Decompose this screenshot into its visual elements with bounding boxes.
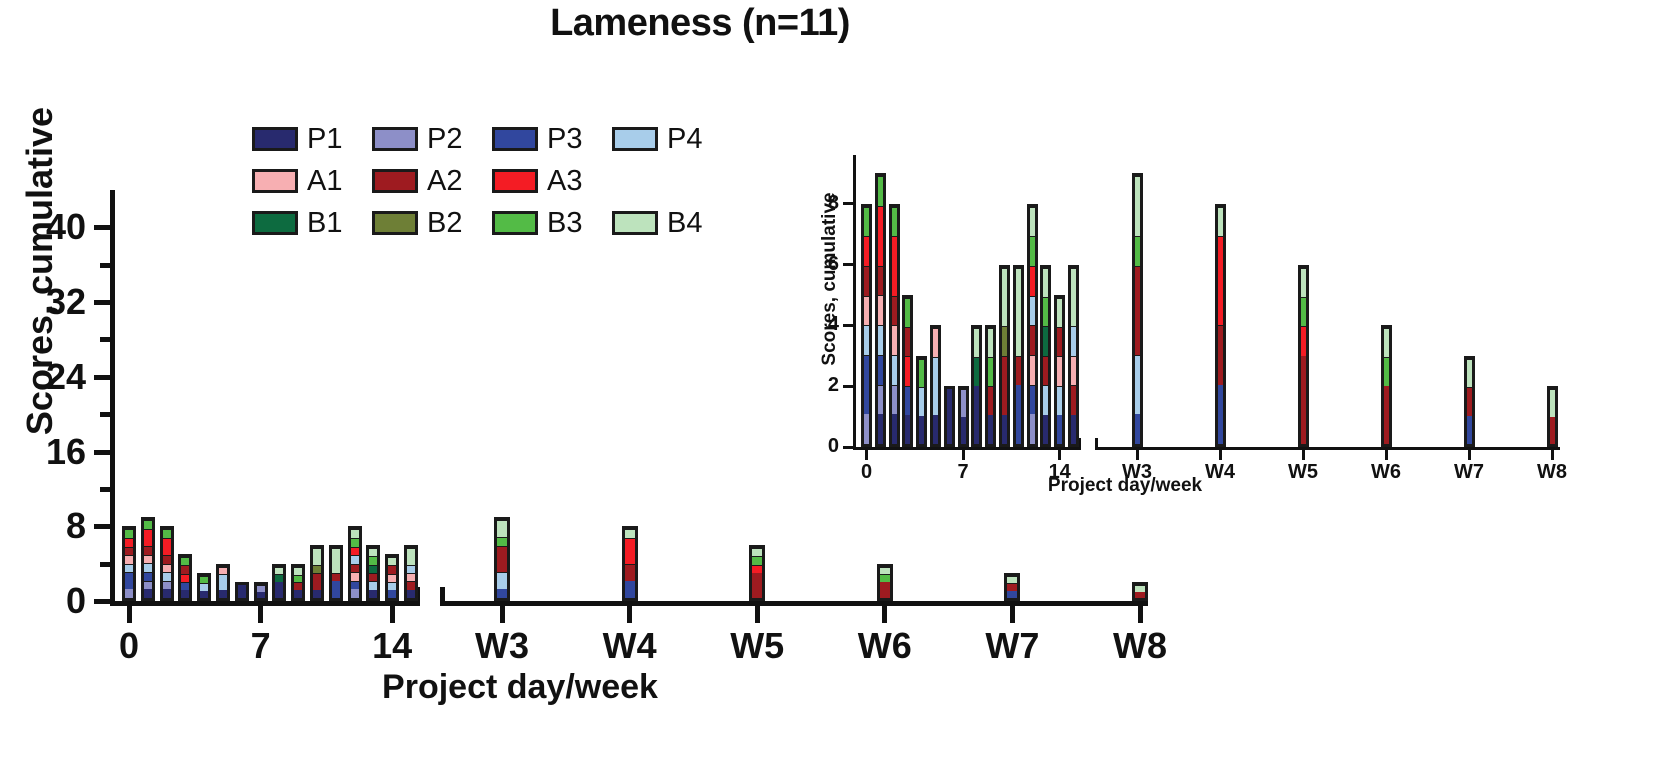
bar-segment-p1 bbox=[294, 590, 302, 598]
bar-segment-b3 bbox=[144, 520, 152, 529]
bar-segment-p4 bbox=[1030, 296, 1035, 326]
main-x-tick-label-day: 0 bbox=[89, 625, 169, 667]
inset-day-bar bbox=[1027, 204, 1038, 447]
bar-segment-p3 bbox=[332, 581, 340, 598]
bar-segment-a2 bbox=[1002, 356, 1007, 415]
bar-segment-p4 bbox=[351, 555, 359, 564]
inset-week-bar bbox=[1132, 173, 1143, 447]
bar-segment-p2 bbox=[163, 581, 171, 590]
bar-segment-b4 bbox=[1030, 207, 1035, 237]
bar-segment-p4 bbox=[388, 582, 396, 590]
inset-y-tick-label: 2 bbox=[795, 374, 839, 397]
bar-segment-b4 bbox=[369, 548, 377, 556]
bar-segment-b4 bbox=[1218, 207, 1223, 237]
inset-day-bar bbox=[971, 325, 982, 447]
bar-segment-a2 bbox=[351, 564, 359, 573]
main-day-bar bbox=[310, 545, 324, 601]
bar-segment-p3 bbox=[1218, 385, 1223, 444]
main-week-bar bbox=[1132, 582, 1148, 601]
bar-segment-b3 bbox=[369, 556, 377, 564]
bar-segment-b3 bbox=[1043, 297, 1048, 326]
bar-segment-b1 bbox=[275, 574, 283, 582]
bar-segment-a1 bbox=[1057, 356, 1062, 385]
bar-segment-b4 bbox=[1301, 268, 1306, 297]
main-y-tick-major bbox=[94, 300, 110, 305]
bar-segment-b4 bbox=[332, 548, 340, 573]
bar-segment-p4 bbox=[878, 325, 883, 355]
bar-segment-p4 bbox=[497, 572, 507, 589]
bar-segment-a3 bbox=[752, 565, 762, 573]
bar-segment-a1 bbox=[1030, 355, 1035, 385]
inset-y-tick-label: 8 bbox=[795, 192, 839, 215]
bar-segment-a2 bbox=[1218, 325, 1223, 384]
main-x-tick-label-week: W8 bbox=[1085, 625, 1195, 667]
main-x-tick-label-week: W3 bbox=[447, 625, 557, 667]
bar-segment-p1 bbox=[1043, 415, 1048, 444]
bar-segment-p3 bbox=[905, 386, 910, 415]
bar-segment-b2 bbox=[1002, 326, 1007, 355]
bar-segment-p3 bbox=[181, 582, 189, 590]
bar-segment-p3 bbox=[878, 355, 883, 385]
inset-week-bar bbox=[1215, 204, 1226, 447]
bar-segment-a2 bbox=[864, 266, 869, 296]
bar-segment-b4 bbox=[1016, 268, 1021, 356]
inset-day-bar bbox=[985, 325, 996, 447]
bar-segment-b4 bbox=[275, 567, 283, 575]
inset-x-axis-weeks bbox=[1095, 447, 1560, 450]
bar-segment-p3 bbox=[1057, 415, 1062, 444]
bar-segment-p4 bbox=[1135, 355, 1140, 415]
bar-segment-p1 bbox=[238, 585, 246, 598]
inset-day-bar bbox=[1040, 265, 1051, 448]
bar-segment-a1 bbox=[125, 555, 133, 564]
main-y-tick-minor bbox=[100, 263, 110, 268]
bar-segment-b3 bbox=[125, 529, 133, 538]
bar-segment-p3 bbox=[497, 589, 507, 598]
bar-segment-p3 bbox=[1007, 591, 1017, 598]
bar-segment-a1 bbox=[351, 572, 359, 581]
main-x-axis-title: Project day/week bbox=[200, 668, 840, 707]
bar-segment-p4 bbox=[144, 563, 152, 572]
bar-segment-a2 bbox=[388, 565, 396, 573]
bar-segment-p2 bbox=[125, 589, 133, 598]
bar-segment-b3 bbox=[163, 529, 171, 538]
bar-segment-a3 bbox=[181, 574, 189, 582]
bar-segment-b3 bbox=[892, 207, 897, 237]
bar-segment-b3 bbox=[988, 357, 993, 386]
bar-segment-b4 bbox=[1384, 328, 1389, 357]
bar-segment-a2 bbox=[1467, 387, 1472, 415]
bar-segment-p1 bbox=[407, 590, 415, 598]
inset-chart: Scores, cumulative Project day/week 0246… bbox=[790, 150, 1650, 510]
bar-segment-p2 bbox=[351, 589, 359, 598]
bar-segment-a2 bbox=[1071, 385, 1076, 414]
main-y-tick-minor bbox=[100, 412, 110, 417]
main-y-tick-label: 32 bbox=[0, 281, 86, 323]
inset-day-bar bbox=[1054, 295, 1065, 447]
main-x-tick-week bbox=[755, 606, 760, 623]
main-y-tick-label: 24 bbox=[0, 356, 86, 398]
inset-day-bar bbox=[875, 173, 886, 447]
inset-x-tick-label-week: W4 bbox=[1188, 461, 1252, 484]
main-x-tick-label-day: 7 bbox=[221, 625, 301, 667]
main-day-bar bbox=[348, 526, 362, 601]
bar-segment-a1 bbox=[892, 325, 897, 355]
inset-x-tick-label-day: 0 bbox=[842, 461, 892, 484]
bar-segment-p4 bbox=[163, 572, 171, 581]
bar-segment-b3 bbox=[351, 538, 359, 547]
bar-segment-p1 bbox=[257, 592, 265, 598]
main-y-tick-label: 40 bbox=[0, 206, 86, 248]
bar-segment-p4 bbox=[864, 325, 869, 355]
bar-segment-p2 bbox=[1030, 414, 1035, 444]
bar-segment-b4 bbox=[388, 557, 396, 565]
bar-segment-p1 bbox=[200, 591, 208, 598]
bar-segment-a3 bbox=[144, 529, 152, 546]
main-y-tick-minor bbox=[100, 487, 110, 492]
main-y-tick-label: 16 bbox=[0, 431, 86, 473]
main-y-tick-major bbox=[94, 450, 110, 455]
bar-segment-a3 bbox=[878, 206, 883, 266]
bar-segment-b4 bbox=[1057, 298, 1062, 327]
inset-y-axis bbox=[853, 155, 856, 450]
main-x-axis-days bbox=[110, 601, 418, 606]
inset-y-tick bbox=[843, 324, 853, 327]
inset-x-tick-week bbox=[1219, 450, 1222, 460]
main-y-tick-label: 0 bbox=[0, 580, 86, 622]
main-y-axis bbox=[110, 190, 115, 606]
main-day-bar bbox=[366, 545, 380, 601]
bar-segment-a2 bbox=[905, 327, 910, 356]
bar-segment-p4 bbox=[919, 387, 924, 415]
bar-segment-b4 bbox=[1007, 576, 1017, 583]
bar-segment-p1 bbox=[961, 417, 966, 444]
main-y-tick-major bbox=[94, 599, 110, 604]
inset-day-bar bbox=[861, 204, 872, 447]
bar-segment-b3 bbox=[200, 576, 208, 583]
bar-segment-p1 bbox=[219, 590, 227, 598]
inset-y-tick-label: 4 bbox=[795, 313, 839, 336]
main-x-tick-label-week: W6 bbox=[830, 625, 940, 667]
inset-day-bar bbox=[1068, 265, 1079, 448]
bar-segment-b4 bbox=[880, 567, 890, 575]
bar-segment-p2 bbox=[961, 389, 966, 416]
bar-segment-a2 bbox=[1550, 417, 1555, 444]
inset-x-tick-label-day: 7 bbox=[938, 461, 988, 484]
main-day-bar bbox=[235, 582, 249, 601]
bar-segment-a2 bbox=[313, 573, 321, 590]
bar-segment-p3 bbox=[1467, 416, 1472, 444]
bar-segment-b3 bbox=[1030, 236, 1035, 266]
bar-segment-b3 bbox=[878, 176, 883, 206]
main-x-tick-day bbox=[390, 606, 395, 623]
bar-segment-p4 bbox=[892, 355, 897, 385]
bar-segment-p4 bbox=[200, 583, 208, 590]
bar-segment-a1 bbox=[219, 567, 227, 575]
bar-segment-b3 bbox=[752, 556, 762, 564]
bar-segment-a3 bbox=[625, 538, 635, 564]
bar-segment-a2 bbox=[144, 546, 152, 555]
main-x-tick-label-day: 14 bbox=[352, 625, 432, 667]
bar-segment-a2 bbox=[878, 266, 883, 296]
bar-segment-a1 bbox=[1071, 356, 1076, 385]
bar-segment-b4 bbox=[313, 548, 321, 565]
inset-x-tick-week bbox=[1136, 450, 1139, 460]
bar-segment-a1 bbox=[878, 295, 883, 325]
main-x-tick-week bbox=[1010, 606, 1015, 623]
inset-day-bar bbox=[958, 386, 969, 447]
bar-segment-p1 bbox=[163, 589, 171, 598]
bar-segment-p2 bbox=[864, 414, 869, 444]
bar-segment-p3 bbox=[625, 581, 635, 598]
bar-segment-b4 bbox=[1135, 176, 1140, 236]
main-week-bar bbox=[1004, 573, 1020, 601]
bar-segment-a1 bbox=[163, 564, 171, 573]
inset-week-bar bbox=[1547, 386, 1558, 447]
bar-segment-p1 bbox=[144, 589, 152, 598]
bar-segment-p3 bbox=[1016, 385, 1021, 444]
bar-segment-b1 bbox=[369, 565, 377, 573]
bar-segment-a2 bbox=[407, 581, 415, 589]
inset-axis-break-cap-right bbox=[1095, 438, 1098, 450]
bar-segment-a2 bbox=[892, 296, 897, 326]
bar-segment-p1 bbox=[275, 582, 283, 598]
bar-segment-b4 bbox=[1467, 359, 1472, 387]
main-y-tick-major bbox=[94, 225, 110, 230]
bar-segment-p3 bbox=[125, 572, 133, 589]
bar-segment-b3 bbox=[294, 575, 302, 583]
bar-segment-a2 bbox=[125, 547, 133, 556]
bar-segment-b4 bbox=[1002, 268, 1007, 327]
bar-segment-p1 bbox=[878, 414, 883, 444]
bar-segment-b4 bbox=[351, 529, 359, 538]
inset-y-tick-label: 6 bbox=[795, 253, 839, 276]
bar-segment-p4 bbox=[369, 581, 377, 589]
main-day-bar bbox=[385, 554, 399, 601]
bar-segment-p1 bbox=[988, 415, 993, 444]
main-x-tick-week bbox=[627, 606, 632, 623]
bar-segment-p4 bbox=[933, 357, 938, 415]
bar-segment-b4 bbox=[1550, 389, 1555, 416]
inset-x-tick-label-day: 14 bbox=[1035, 461, 1085, 484]
main-y-tick-label: 8 bbox=[0, 505, 86, 547]
bar-segment-a3 bbox=[892, 236, 897, 295]
bar-segment-p3 bbox=[388, 590, 396, 598]
main-day-bar bbox=[160, 526, 174, 601]
inset-x-tick-day bbox=[962, 450, 965, 460]
main-x-tick-day bbox=[127, 606, 132, 623]
bar-segment-a2 bbox=[497, 546, 507, 572]
main-week-bar bbox=[494, 517, 510, 601]
main-y-tick-minor bbox=[100, 562, 110, 567]
bar-segment-a2 bbox=[625, 564, 635, 581]
bar-segment-a2 bbox=[1043, 356, 1048, 385]
inset-x-tick-day bbox=[1058, 450, 1061, 460]
bar-segment-p4 bbox=[1043, 385, 1048, 414]
bar-segment-p4 bbox=[125, 564, 133, 573]
bar-segment-p1 bbox=[974, 386, 979, 444]
bar-segment-p1 bbox=[933, 415, 938, 444]
bar-segment-b3 bbox=[864, 207, 869, 237]
bar-segment-p1 bbox=[919, 416, 924, 444]
bar-segment-a1 bbox=[864, 296, 869, 326]
bar-segment-b3 bbox=[1384, 357, 1389, 386]
bar-segment-p1 bbox=[905, 415, 910, 444]
bar-segment-a1 bbox=[933, 328, 938, 357]
main-x-tick-week bbox=[882, 606, 887, 623]
main-x-tick-week bbox=[500, 606, 505, 623]
bar-segment-a2 bbox=[1135, 592, 1145, 598]
main-day-bar bbox=[122, 526, 136, 601]
inset-y-tick bbox=[843, 202, 853, 205]
bar-segment-b4 bbox=[988, 328, 993, 357]
bar-segment-p1 bbox=[369, 590, 377, 598]
bar-segment-a3 bbox=[351, 547, 359, 556]
bar-segment-a1 bbox=[144, 555, 152, 564]
bar-segment-a2 bbox=[1016, 356, 1021, 385]
bar-segment-b3 bbox=[1301, 297, 1306, 326]
bar-segment-b4 bbox=[625, 529, 635, 538]
bar-segment-p1 bbox=[181, 590, 189, 598]
bar-segment-b3 bbox=[1135, 236, 1140, 266]
bar-segment-a2 bbox=[163, 555, 171, 564]
main-y-tick-minor bbox=[100, 337, 110, 342]
main-x-axis-weeks bbox=[440, 601, 1148, 606]
bar-segment-p1 bbox=[892, 414, 897, 444]
main-week-bar bbox=[877, 564, 893, 601]
inset-x-tick-week bbox=[1385, 450, 1388, 460]
bar-segment-a2 bbox=[369, 573, 377, 581]
bar-segment-p3 bbox=[1030, 385, 1035, 415]
main-day-bar bbox=[197, 573, 211, 601]
bar-segment-b4 bbox=[974, 328, 979, 357]
bar-segment-a3 bbox=[1301, 326, 1306, 355]
bar-segment-p3 bbox=[1135, 414, 1140, 444]
inset-x-tick-label-week: W7 bbox=[1437, 461, 1501, 484]
bar-segment-p4 bbox=[219, 574, 227, 590]
bar-segment-a3 bbox=[905, 356, 910, 385]
main-day-bar bbox=[141, 517, 155, 601]
bar-segment-a2 bbox=[1301, 356, 1306, 444]
main-day-bar bbox=[216, 564, 230, 601]
inset-y-tick bbox=[843, 385, 853, 388]
bar-segment-a3 bbox=[1218, 236, 1223, 325]
bar-segment-b2 bbox=[313, 565, 321, 573]
main-x-tick-label-week: W7 bbox=[957, 625, 1067, 667]
bar-segment-a2 bbox=[332, 573, 340, 581]
main-y-tick-major bbox=[94, 375, 110, 380]
inset-x-tick-label-week: W8 bbox=[1520, 461, 1584, 484]
inset-day-bar bbox=[944, 386, 955, 447]
bar-segment-b4 bbox=[1043, 268, 1048, 297]
bar-segment-b4 bbox=[752, 548, 762, 556]
main-day-bar bbox=[254, 582, 268, 601]
bar-segment-p4 bbox=[1057, 386, 1062, 415]
inset-y-tick bbox=[843, 446, 853, 449]
bar-segment-p3 bbox=[351, 581, 359, 590]
main-day-bar bbox=[272, 564, 286, 601]
inset-x-tick-week bbox=[1551, 450, 1554, 460]
bar-segment-p1 bbox=[1002, 415, 1007, 444]
main-axis-break-cap-right bbox=[440, 587, 445, 606]
main-x-tick-week bbox=[1138, 606, 1143, 623]
inset-week-bar bbox=[1381, 325, 1392, 447]
bar-segment-a2 bbox=[1057, 327, 1062, 356]
bar-segment-a2 bbox=[1384, 386, 1389, 444]
bar-segment-b1 bbox=[1043, 326, 1048, 355]
bar-segment-p2 bbox=[144, 581, 152, 590]
inset-x-tick-week bbox=[1302, 450, 1305, 460]
inset-day-bar bbox=[999, 265, 1010, 448]
bar-segment-a1 bbox=[407, 573, 415, 581]
main-week-bar bbox=[622, 526, 638, 601]
main-day-bar bbox=[291, 564, 305, 601]
bar-segment-a1 bbox=[388, 574, 396, 582]
inset-day-bar bbox=[1013, 265, 1024, 448]
bar-segment-a3 bbox=[125, 538, 133, 547]
main-x-tick-day bbox=[258, 606, 263, 623]
inset-x-tick-label-week: W3 bbox=[1105, 461, 1169, 484]
bar-segment-b3 bbox=[919, 359, 924, 387]
inset-day-bar bbox=[930, 325, 941, 447]
inset-x-tick-label-week: W6 bbox=[1354, 461, 1418, 484]
bar-segment-b3 bbox=[905, 298, 910, 327]
bar-segment-b1 bbox=[974, 357, 979, 386]
bar-segment-b4 bbox=[407, 548, 415, 565]
bar-segment-a3 bbox=[1030, 266, 1035, 296]
bar-segment-p1 bbox=[947, 389, 952, 444]
bar-segment-a2 bbox=[1030, 325, 1035, 355]
bar-segment-p1 bbox=[1071, 415, 1076, 444]
bar-segment-b4 bbox=[1071, 268, 1076, 327]
main-day-bar bbox=[178, 554, 192, 601]
bar-segment-p3 bbox=[864, 355, 869, 414]
bar-segment-a2 bbox=[181, 565, 189, 573]
bar-segment-b3 bbox=[181, 557, 189, 565]
bar-segment-p1 bbox=[313, 590, 321, 598]
main-x-tick-label-week: W4 bbox=[575, 625, 685, 667]
main-week-bar bbox=[749, 545, 765, 601]
main-y-tick-major bbox=[94, 524, 110, 529]
inset-day-bar bbox=[916, 356, 927, 447]
bar-segment-p3 bbox=[144, 572, 152, 581]
bar-segment-a2 bbox=[1007, 583, 1017, 590]
bar-segment-b3 bbox=[497, 537, 507, 546]
main-day-bar bbox=[404, 545, 418, 601]
bar-segment-p2 bbox=[892, 385, 897, 415]
inset-y-tick bbox=[843, 263, 853, 266]
main-x-tick-label-week: W5 bbox=[702, 625, 812, 667]
inset-x-axis-days bbox=[853, 447, 1080, 450]
bar-segment-a2 bbox=[752, 573, 762, 598]
bar-segment-a2 bbox=[294, 582, 302, 590]
inset-x-tick-label-week: W5 bbox=[1271, 461, 1335, 484]
inset-day-bar bbox=[889, 204, 900, 447]
inset-day-bar bbox=[902, 295, 913, 447]
inset-y-tick-label: 0 bbox=[795, 435, 839, 458]
bar-segment-a2 bbox=[880, 582, 890, 598]
bar-segment-b4 bbox=[294, 567, 302, 575]
main-day-bar bbox=[329, 545, 343, 601]
inset-week-bar bbox=[1464, 356, 1475, 447]
bar-segment-a3 bbox=[163, 538, 171, 555]
bar-segment-p2 bbox=[878, 385, 883, 415]
bar-segment-a2 bbox=[988, 386, 993, 415]
bar-segment-a3 bbox=[864, 236, 869, 266]
bar-segment-b3 bbox=[880, 574, 890, 582]
bar-segment-p4 bbox=[407, 565, 415, 573]
bar-segment-p4 bbox=[1071, 326, 1076, 355]
